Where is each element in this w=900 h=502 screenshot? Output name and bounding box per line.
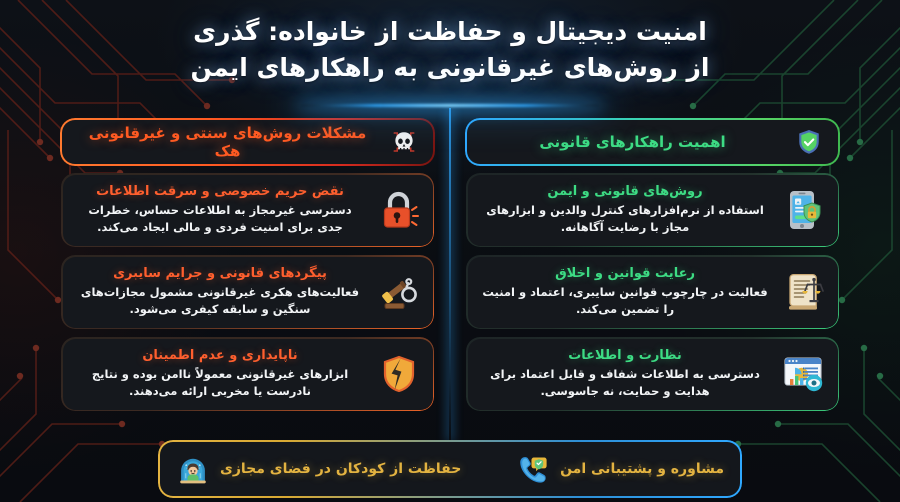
bottom-bar-child-protection[interactable]: حفاظت از کودکان در فضای مجازی [176, 452, 461, 486]
safe-card-2-body: فعالیت در چارچوب قوانین سایبری، اعتماد و… [479, 284, 771, 318]
danger-column-header[interactable]: مشکلات روش‌های سنتی و غیرقانونی هک [62, 120, 433, 164]
broken-padlock-icon [377, 188, 421, 232]
phone-support-icon [516, 452, 550, 486]
danger-card-1[interactable]: نقض حریم خصوصی و سرقت اطلاعات دسترسی غیر… [62, 174, 433, 246]
page-title: امنیت دیجیتال و حفاظت از خانواده: گذری ا… [0, 14, 900, 85]
columns-container: مشکلات روش‌های سنتی و غیرقانونی هک نقض ح… [0, 120, 900, 410]
safe-card-1[interactable]: روش‌های قانونی و ایمن استفاده از نرم‌افز… [467, 174, 838, 246]
danger-card-2[interactable]: پیگردهای قانونی و جرایم سایبری فعالیت‌ها… [62, 256, 433, 328]
danger-header-label: مشکلات روش‌های سنتی و غیرقانونی هک [76, 124, 379, 160]
danger-card-1-body: دسترسی غیرمجاز به اطلاعات حساس، خطرات جد… [74, 202, 366, 236]
scroll-scales-icon [782, 270, 826, 314]
title-underglow [300, 104, 600, 107]
danger-card-3-body: ابزارهای غیرقانونی معمولاً ناامن بوده و … [74, 366, 366, 400]
danger-card-3-text: ناپایداری و عدم اطمینان ابزارهای غیرقانو… [74, 348, 366, 401]
column-safe: اهمیت راهکارهای قانونی [467, 120, 838, 410]
safe-card-3-text: نظارت و اطلاعات دسترسی به اطلاعات شفاف و… [479, 348, 771, 401]
child-shield-icon [176, 452, 210, 486]
gavel-handcuffs-icon [377, 270, 421, 314]
safe-card-1-text: روش‌های قانونی و ایمن استفاده از نرم‌افز… [479, 184, 771, 237]
secure-phone-icon [782, 188, 826, 232]
safe-card-1-body: استفاده از نرم‌افزارهای کنترل والدین و ا… [479, 202, 771, 236]
dashboard-eye-icon [782, 352, 826, 396]
support-label: مشاوره و پشتیبانی امن [560, 461, 724, 477]
bottom-bar: حفاظت از کودکان در فضای مجازی مشاوره و پ… [160, 442, 740, 496]
skull-icon [389, 127, 419, 157]
safe-card-3-heading: نظارت و اطلاعات [479, 348, 771, 365]
safe-card-3[interactable]: نظارت و اطلاعات دسترسی به اطلاعات شفاف و… [467, 338, 838, 410]
safe-card-3-body: دسترسی به اطلاعات شفاف و قابل اعتماد برا… [479, 366, 771, 400]
danger-card-2-body: فعالیت‌های هکری غیرقانونی مشمول مجازات‌ه… [74, 284, 366, 318]
safe-card-2-text: رعایت قوانین و اخلاق فعالیت در چارچوب قو… [479, 266, 771, 319]
safe-card-2[interactable]: رعایت قوانین و اخلاق فعالیت در چارچوب قو… [467, 256, 838, 328]
title-line-2: از روش‌های غیرقانونی به راهکارهای ایمن [0, 50, 900, 86]
title-line-1: امنیت دیجیتال و حفاظت از خانواده: گذری [0, 14, 900, 50]
cracked-shield-icon [377, 352, 421, 396]
bottom-bar-support[interactable]: مشاوره و پشتیبانی امن [516, 452, 724, 486]
safe-card-1-heading: روش‌های قانونی و ایمن [479, 184, 771, 201]
safe-header-label: اهمیت راهکارهای قانونی [481, 133, 784, 151]
danger-card-2-text: پیگردهای قانونی و جرایم سایبری فعالیت‌ها… [74, 266, 366, 319]
safe-column-header[interactable]: اهمیت راهکارهای قانونی [467, 120, 838, 164]
danger-card-1-heading: نقض حریم خصوصی و سرقت اطلاعات [74, 184, 366, 201]
danger-card-2-heading: پیگردهای قانونی و جرایم سایبری [74, 266, 366, 283]
column-danger: مشکلات روش‌های سنتی و غیرقانونی هک نقض ح… [62, 120, 433, 410]
safe-card-2-heading: رعایت قوانین و اخلاق [479, 266, 771, 283]
child-protection-label: حفاظت از کودکان در فضای مجازی [220, 461, 461, 477]
danger-card-3[interactable]: ناپایداری و عدم اطمینان ابزارهای غیرقانو… [62, 338, 433, 410]
danger-card-3-heading: ناپایداری و عدم اطمینان [74, 348, 366, 365]
infographic-canvas: امنیت دیجیتال و حفاظت از خانواده: گذری ا… [0, 0, 900, 502]
shield-check-icon [794, 127, 824, 157]
danger-card-1-text: نقض حریم خصوصی و سرقت اطلاعات دسترسی غیر… [74, 184, 366, 237]
